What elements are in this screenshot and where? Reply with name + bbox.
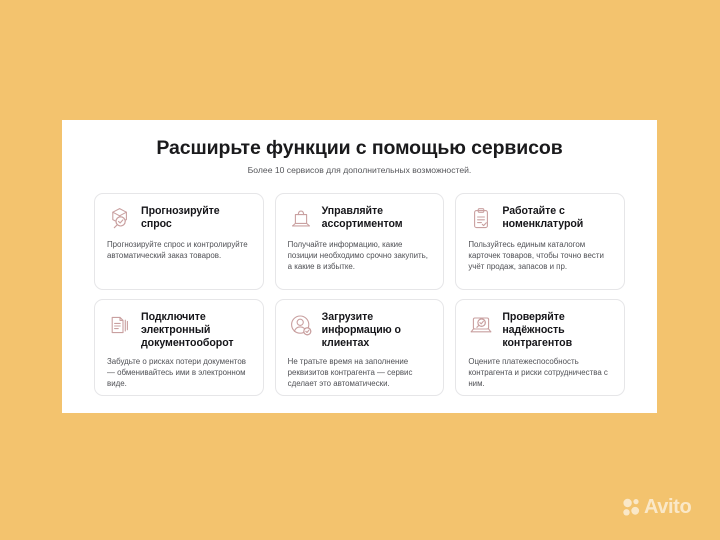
service-card-electronic-documents[interactable]: Подключите электронный документооборот З… — [94, 299, 264, 396]
card-title: Прогнозируйте спрос — [141, 205, 251, 231]
service-card-grid: Прогнозируйте спрос Прогнозируйте спрос … — [94, 193, 625, 396]
card-title: Управляйте ассортиментом — [322, 205, 432, 231]
card-body: Прогнозируйте спрос и контролируйте авто… — [107, 239, 251, 261]
avito-watermark: Avito — [623, 497, 691, 517]
documents-stack-icon — [107, 312, 133, 338]
avito-wordmark: Avito — [644, 497, 691, 517]
services-panel: Расширьте функции с помощью сервисов Бол… — [62, 120, 657, 413]
page-background: Расширьте функции с помощью сервисов Бол… — [0, 0, 720, 540]
user-avatar-check-icon — [288, 312, 314, 338]
service-card-check-counterparties[interactable]: Проверяйте надёжность контрагентов Оцени… — [455, 299, 625, 396]
card-header: Проверяйте надёжность контрагентов — [468, 311, 612, 350]
service-card-forecast-demand[interactable]: Прогнозируйте спрос Прогнозируйте спрос … — [94, 193, 264, 290]
box-magnifier-check-icon — [107, 206, 133, 232]
avito-dots-logo-icon — [623, 498, 640, 516]
card-header: Подключите электронный документооборот — [107, 311, 251, 350]
card-header: Управляйте ассортиментом — [288, 205, 432, 232]
service-card-client-information[interactable]: Загрузите информацию о клиентах Не трать… — [275, 299, 445, 396]
card-body: Оцените платежеспособность контрагента и… — [468, 356, 612, 390]
page-title: Расширьте функции с помощью сервисов — [94, 137, 625, 159]
card-header: Прогнозируйте спрос — [107, 205, 251, 232]
laptop-magnifier-check-icon — [468, 312, 494, 338]
clipboard-check-icon — [468, 206, 494, 232]
panel-heading: Расширьте функции с помощью сервисов Бол… — [94, 137, 625, 176]
service-card-nomenclature[interactable]: Работайте с номенклатурой Пользуйтесь ед… — [455, 193, 625, 290]
card-body: Получайте информацию, какие позиции необ… — [288, 239, 432, 273]
card-header: Работайте с номенклатурой — [468, 205, 612, 232]
card-body: Не тратьте время на заполнение реквизито… — [288, 356, 432, 390]
service-card-manage-assortment[interactable]: Управляйте ассортиментом Получайте инфор… — [275, 193, 445, 290]
page-subtitle: Более 10 сервисов для дополнительных воз… — [94, 165, 625, 175]
card-header: Загрузите информацию о клиентах — [288, 311, 432, 350]
card-title: Подключите электронный документооборот — [141, 311, 251, 350]
card-title: Работайте с номенклатурой — [502, 205, 612, 231]
card-body: Пользуйтесь единым каталогом карточек то… — [468, 239, 612, 273]
shopping-bag-laptop-icon — [288, 206, 314, 232]
card-title: Загрузите информацию о клиентах — [322, 311, 432, 350]
card-body: Забудьте о рисках потери документов — об… — [107, 356, 251, 390]
card-title: Проверяйте надёжность контрагентов — [502, 311, 612, 350]
